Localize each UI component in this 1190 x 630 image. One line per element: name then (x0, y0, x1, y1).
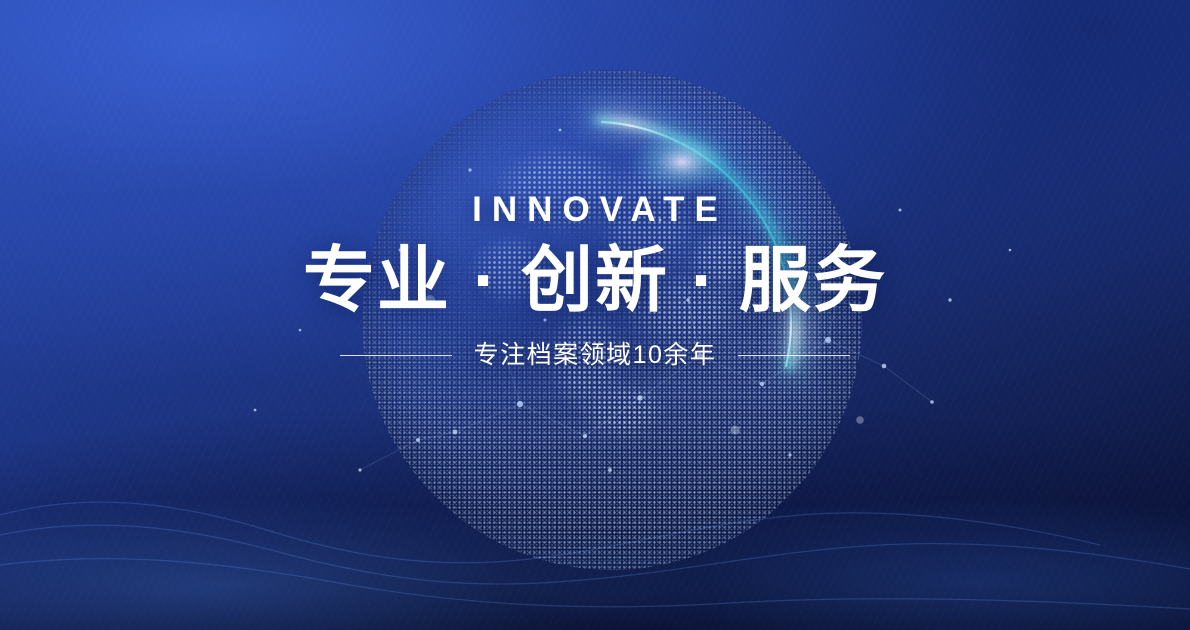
banner-eyebrow: INNOVATE (462, 192, 728, 227)
banner-content: INNOVATE 专业 · 创新 · 服务 专注档案领域10余年 (0, 0, 1190, 630)
divider-line-right (738, 355, 850, 356)
banner-subtitle-row: 专注档案领域10余年 (340, 343, 851, 368)
divider-line-left (340, 355, 452, 356)
hero-banner: INNOVATE 专业 · 创新 · 服务 专注档案领域10余年 (0, 0, 1190, 630)
banner-headline: 专业 · 创新 · 服务 (303, 245, 887, 317)
banner-subtitle: 专注档案领域10余年 (474, 343, 717, 368)
